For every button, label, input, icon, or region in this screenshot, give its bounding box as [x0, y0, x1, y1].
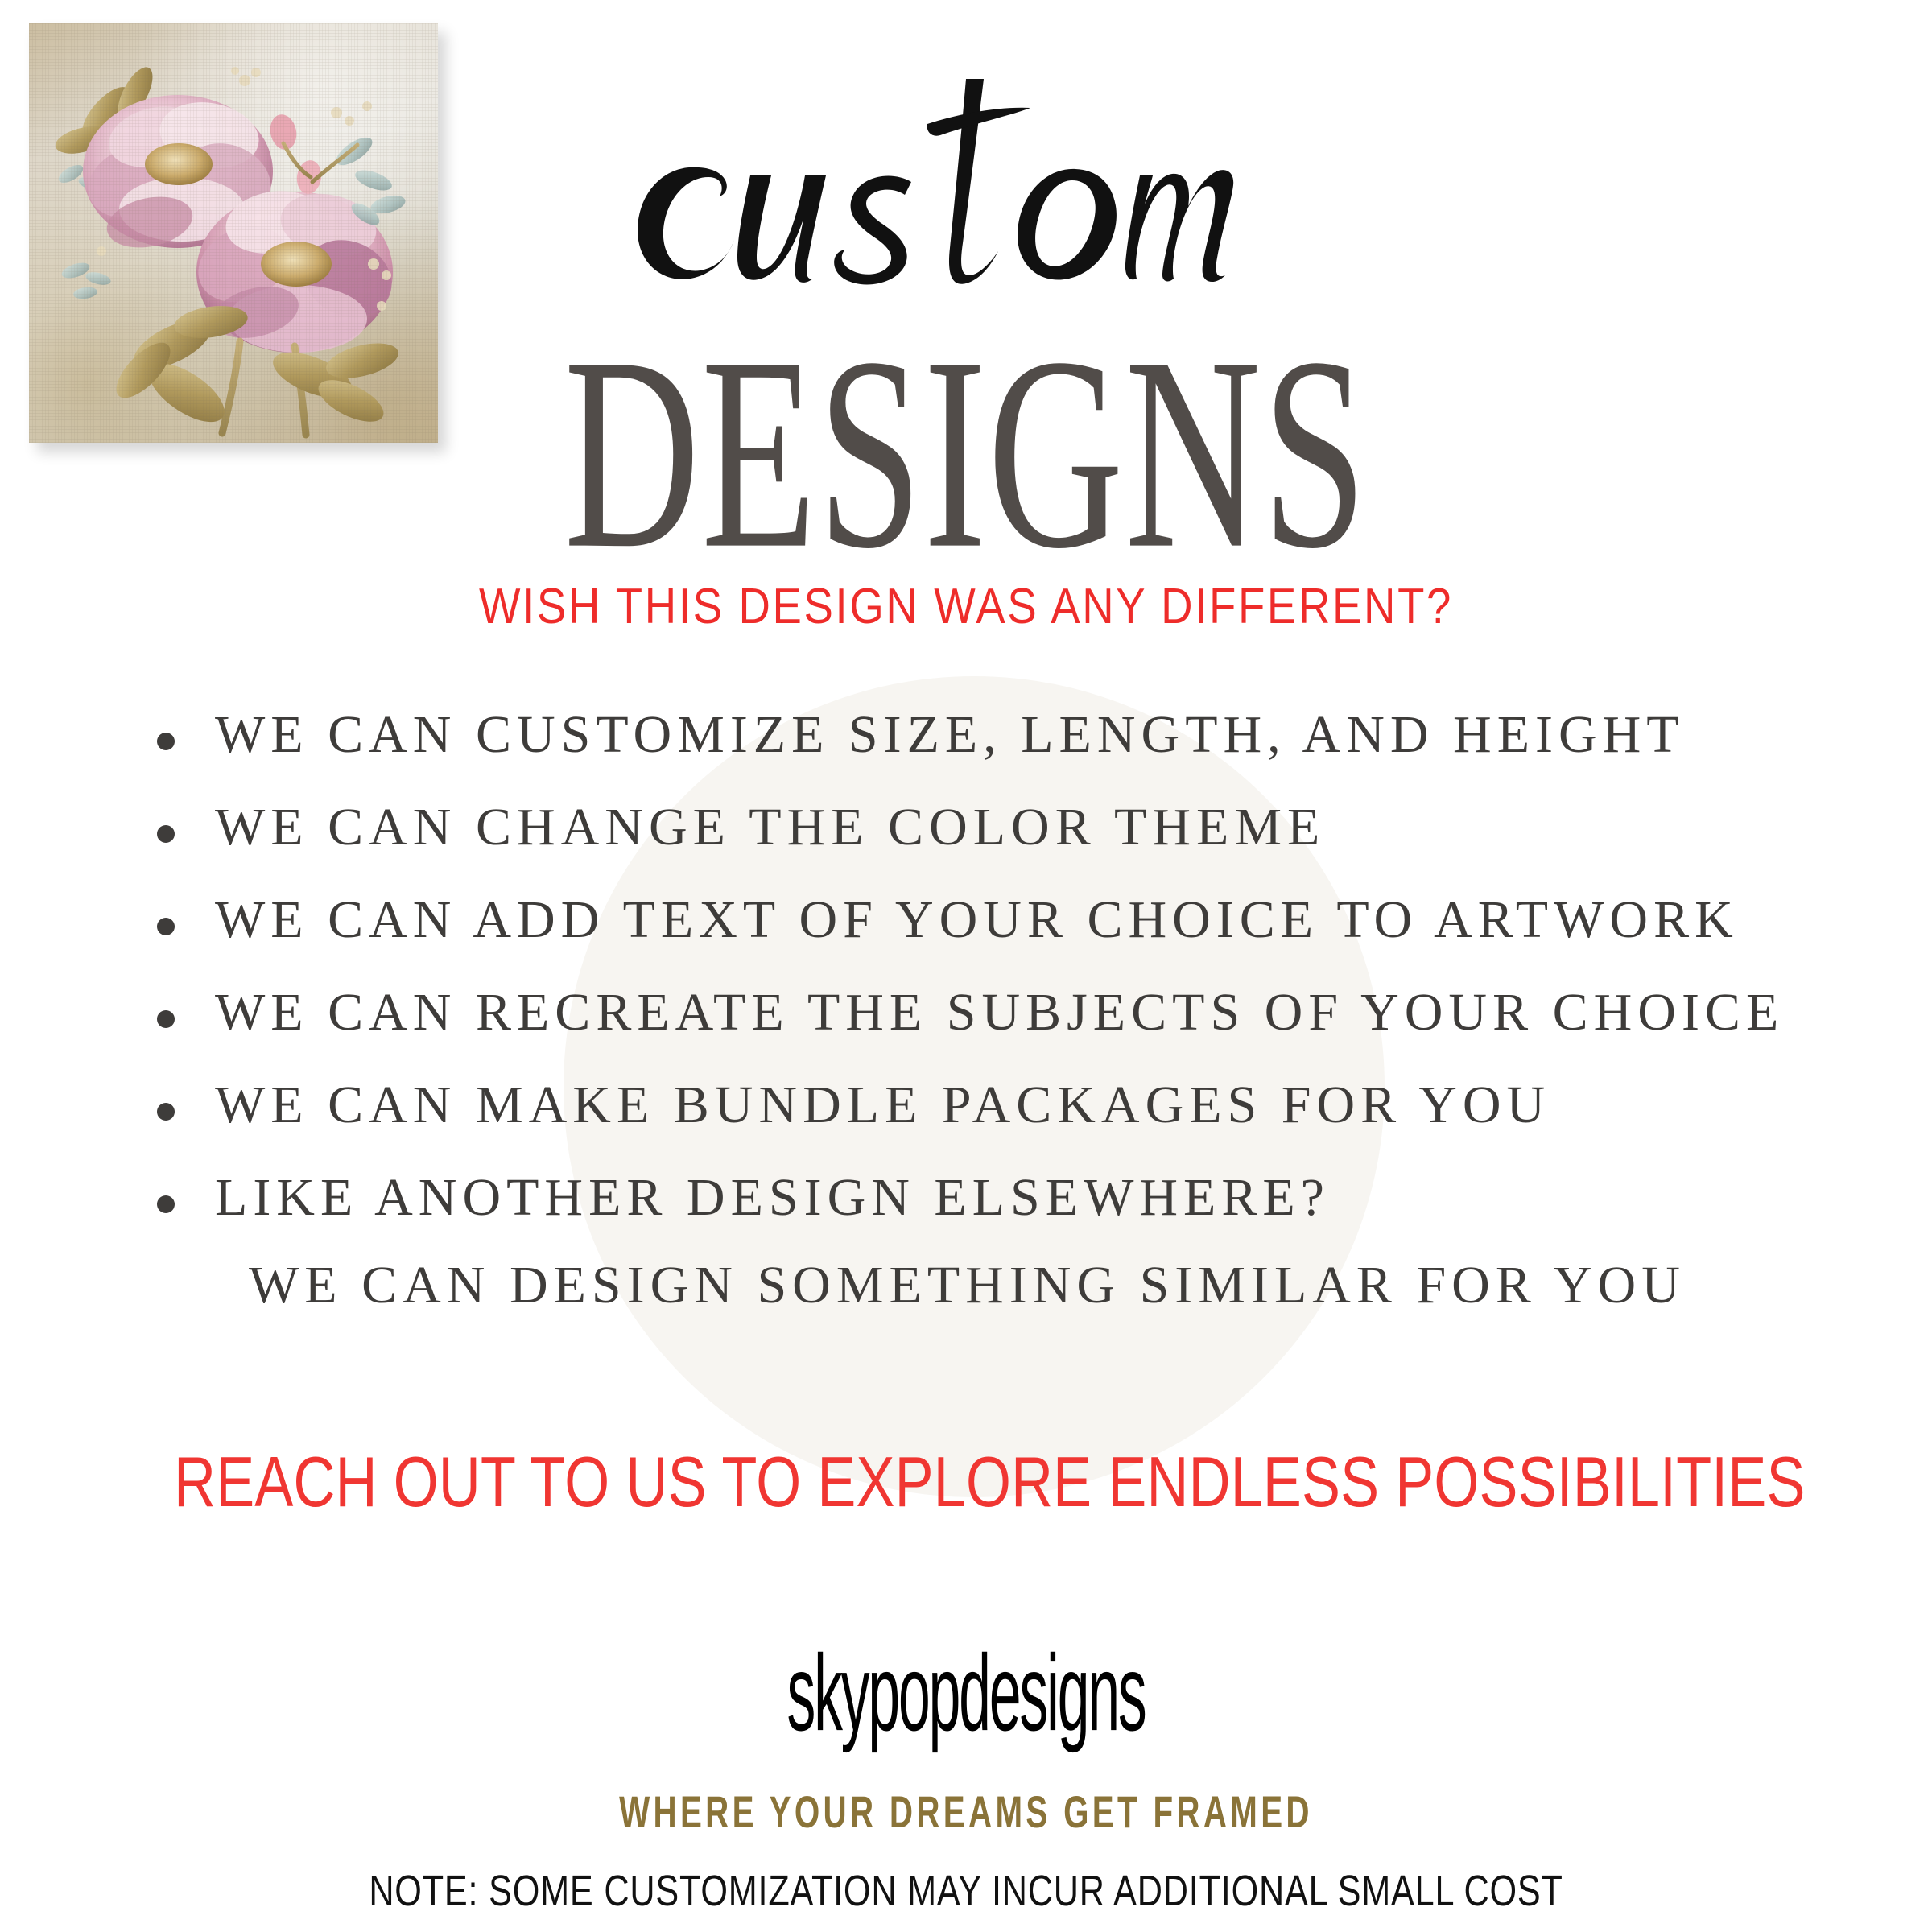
bullet-dot-icon: [157, 1195, 175, 1213]
page-title-designs: DESIGNS: [213, 338, 1719, 568]
feature-label: WE CAN RECREATE THE SUBJECTS OF YOUR CHO…: [215, 986, 1784, 1039]
list-item-continuation: WE CAN DESIGN SOMETHING SIMILAR FOR YOU: [157, 1259, 1831, 1352]
feature-list: WE CAN CUSTOMIZE SIZE, LENGTH, AND HEIGH…: [157, 708, 1831, 1352]
list-item: WE CAN RECREATE THE SUBJECTS OF YOUR CHO…: [157, 986, 1831, 1079]
bullet-dot-icon: [157, 825, 175, 843]
feature-label: WE CAN MAKE BUNDLE PACKAGES FOR YOU: [215, 1079, 1550, 1132]
bullet-dot-icon: [157, 733, 175, 750]
poster-canvas: DESIGNS WISH THIS DESIGN WAS ANY DIFFERE…: [0, 0, 1932, 1932]
tagline-question: WISH THIS DESIGN WAS ANY DIFFERENT?: [116, 578, 1816, 635]
footnote-disclaimer: NOTE: SOME CUSTOMIZATION MAY INCUR ADDIT…: [193, 1866, 1739, 1916]
bullet-dot-icon: [157, 1103, 175, 1121]
feature-label: WE CAN CHANGE THE COLOR THEME: [215, 801, 1325, 854]
list-item: WE CAN CHANGE THE COLOR THEME: [157, 801, 1831, 894]
list-item: LIKE ANOTHER DESIGN ELSEWHERE?: [157, 1171, 1831, 1264]
feature-label: LIKE ANOTHER DESIGN ELSEWHERE?: [215, 1171, 1330, 1224]
list-item: WE CAN MAKE BUNDLE PACKAGES FOR YOU: [157, 1079, 1831, 1171]
list-item: WE CAN ADD TEXT OF YOUR CHOICE TO ARTWOR…: [157, 894, 1831, 986]
bullet-spacer: [157, 1283, 175, 1301]
bullet-dot-icon: [157, 918, 175, 935]
feature-label: WE CAN ADD TEXT OF YOUR CHOICE TO ARTWOR…: [215, 894, 1739, 947]
brand-tagline: WHERE YOUR DREAMS GET FRAMED: [270, 1785, 1662, 1838]
call-to-action-text[interactable]: REACH OUT TO US TO EXPLORE ENDLESS POSSI…: [174, 1441, 1758, 1523]
feature-label: WE CAN CUSTOMIZE SIZE, LENGTH, AND HEIGH…: [215, 708, 1685, 762]
bullet-dot-icon: [157, 1010, 175, 1028]
script-heading-custom: [563, 47, 1368, 304]
brand-logo-wordmark: skypopdesigns: [425, 1631, 1507, 1755]
list-item: WE CAN CUSTOMIZE SIZE, LENGTH, AND HEIGH…: [157, 708, 1831, 801]
feature-label: WE CAN DESIGN SOMETHING SIMILAR FOR YOU: [215, 1259, 1686, 1312]
